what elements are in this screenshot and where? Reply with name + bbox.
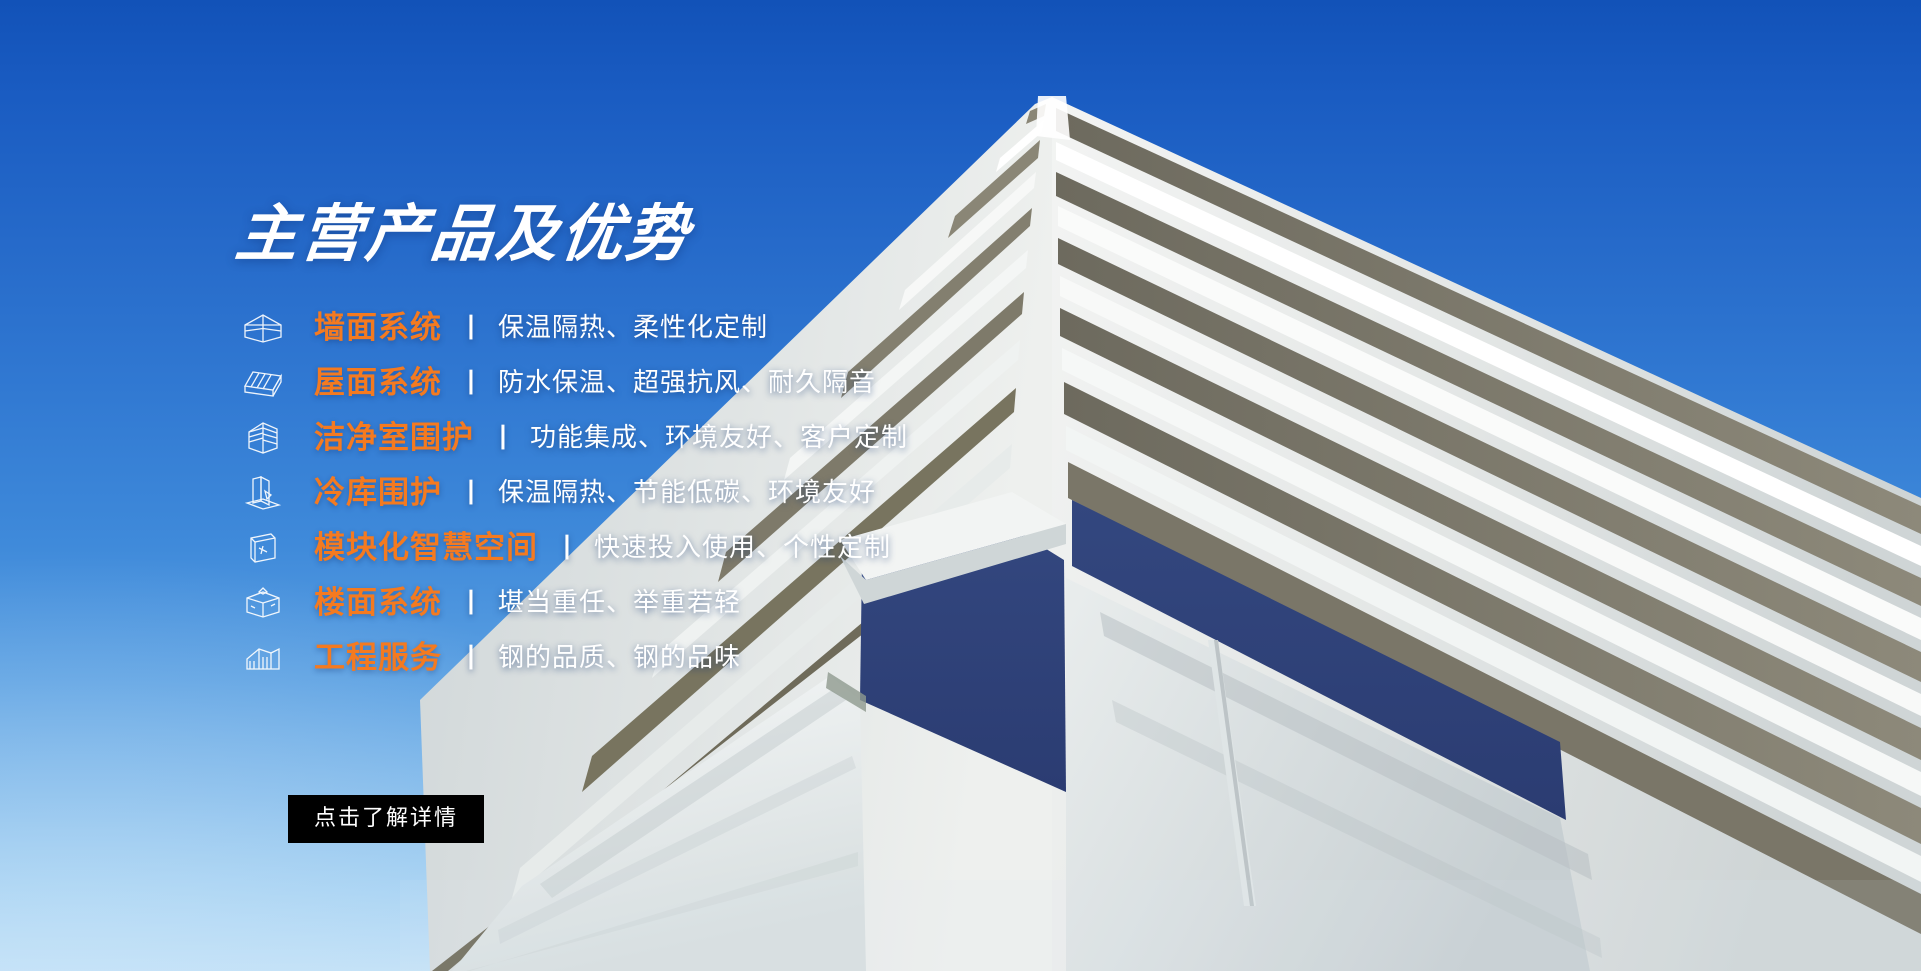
floor-system-icon bbox=[236, 581, 290, 625]
feature-row[interactable]: 工程服务 丨 钢的品质、钢的品味 bbox=[236, 630, 1056, 685]
feature-row[interactable]: 冷库围护 丨 保温隔热、节能低碳、环境友好 bbox=[236, 465, 1056, 520]
feature-description: 钢的品质、钢的品味 bbox=[498, 643, 741, 673]
hero-content: 主营产品及优势 墙面系统 丨 保温隔热、柔性化定制 bbox=[0, 0, 900, 971]
wall-system-icon bbox=[236, 306, 290, 350]
feature-row[interactable]: 屋面系统 丨 防水保温、超强抗风、耐久隔音 bbox=[236, 355, 1056, 410]
feature-separator: 丨 bbox=[490, 418, 516, 455]
modular-space-icon bbox=[236, 526, 290, 570]
cold-storage-icon bbox=[236, 471, 290, 515]
feature-title: 墙面系统 bbox=[314, 311, 442, 345]
tower-apex bbox=[1036, 96, 1070, 140]
cleanroom-icon bbox=[236, 416, 290, 460]
feature-title: 屋面系统 bbox=[314, 366, 442, 400]
feature-list: 墙面系统 丨 保温隔热、柔性化定制 屋面系统 丨 防水保温、超强抗风、耐久隔音 bbox=[236, 300, 1056, 685]
engineering-service-icon bbox=[236, 636, 290, 680]
feature-description: 堪当重任、举重若轻 bbox=[498, 588, 741, 618]
feature-title: 楼面系统 bbox=[314, 586, 442, 620]
feature-description: 保温隔热、节能低碳、环境友好 bbox=[498, 478, 876, 508]
learn-more-button[interactable]: 点击了解详情 bbox=[288, 795, 484, 843]
feature-description: 功能集成、环境友好、客户定制 bbox=[530, 423, 908, 453]
feature-row[interactable]: 模块化智慧空间 丨 快速投入使用、个性定制 bbox=[236, 520, 1056, 575]
hero-banner: 主营产品及优势 墙面系统 丨 保温隔热、柔性化定制 bbox=[0, 0, 1921, 971]
feature-row[interactable]: 洁净室围护 丨 功能集成、环境友好、客户定制 bbox=[236, 410, 1056, 465]
feature-row[interactable]: 墙面系统 丨 保温隔热、柔性化定制 bbox=[236, 300, 1056, 355]
feature-title: 模块化智慧空间 bbox=[314, 531, 538, 565]
feature-separator: 丨 bbox=[458, 473, 484, 510]
feature-title: 冷库围护 bbox=[314, 476, 442, 510]
feature-title: 洁净室围护 bbox=[314, 421, 474, 455]
roof-system-icon bbox=[236, 361, 290, 405]
feature-title: 工程服务 bbox=[314, 641, 442, 675]
page-title: 主营产品及优势 bbox=[232, 196, 695, 272]
feature-description: 防水保温、超强抗风、耐久隔音 bbox=[498, 368, 876, 398]
feature-description: 快速投入使用、个性定制 bbox=[594, 533, 891, 563]
feature-separator: 丨 bbox=[554, 528, 580, 565]
feature-separator: 丨 bbox=[458, 363, 484, 400]
feature-separator: 丨 bbox=[458, 308, 484, 345]
feature-separator: 丨 bbox=[458, 638, 484, 675]
feature-separator: 丨 bbox=[458, 583, 484, 620]
feature-row[interactable]: 楼面系统 丨 堪当重任、举重若轻 bbox=[236, 575, 1056, 630]
feature-description: 保温隔热、柔性化定制 bbox=[498, 313, 768, 343]
